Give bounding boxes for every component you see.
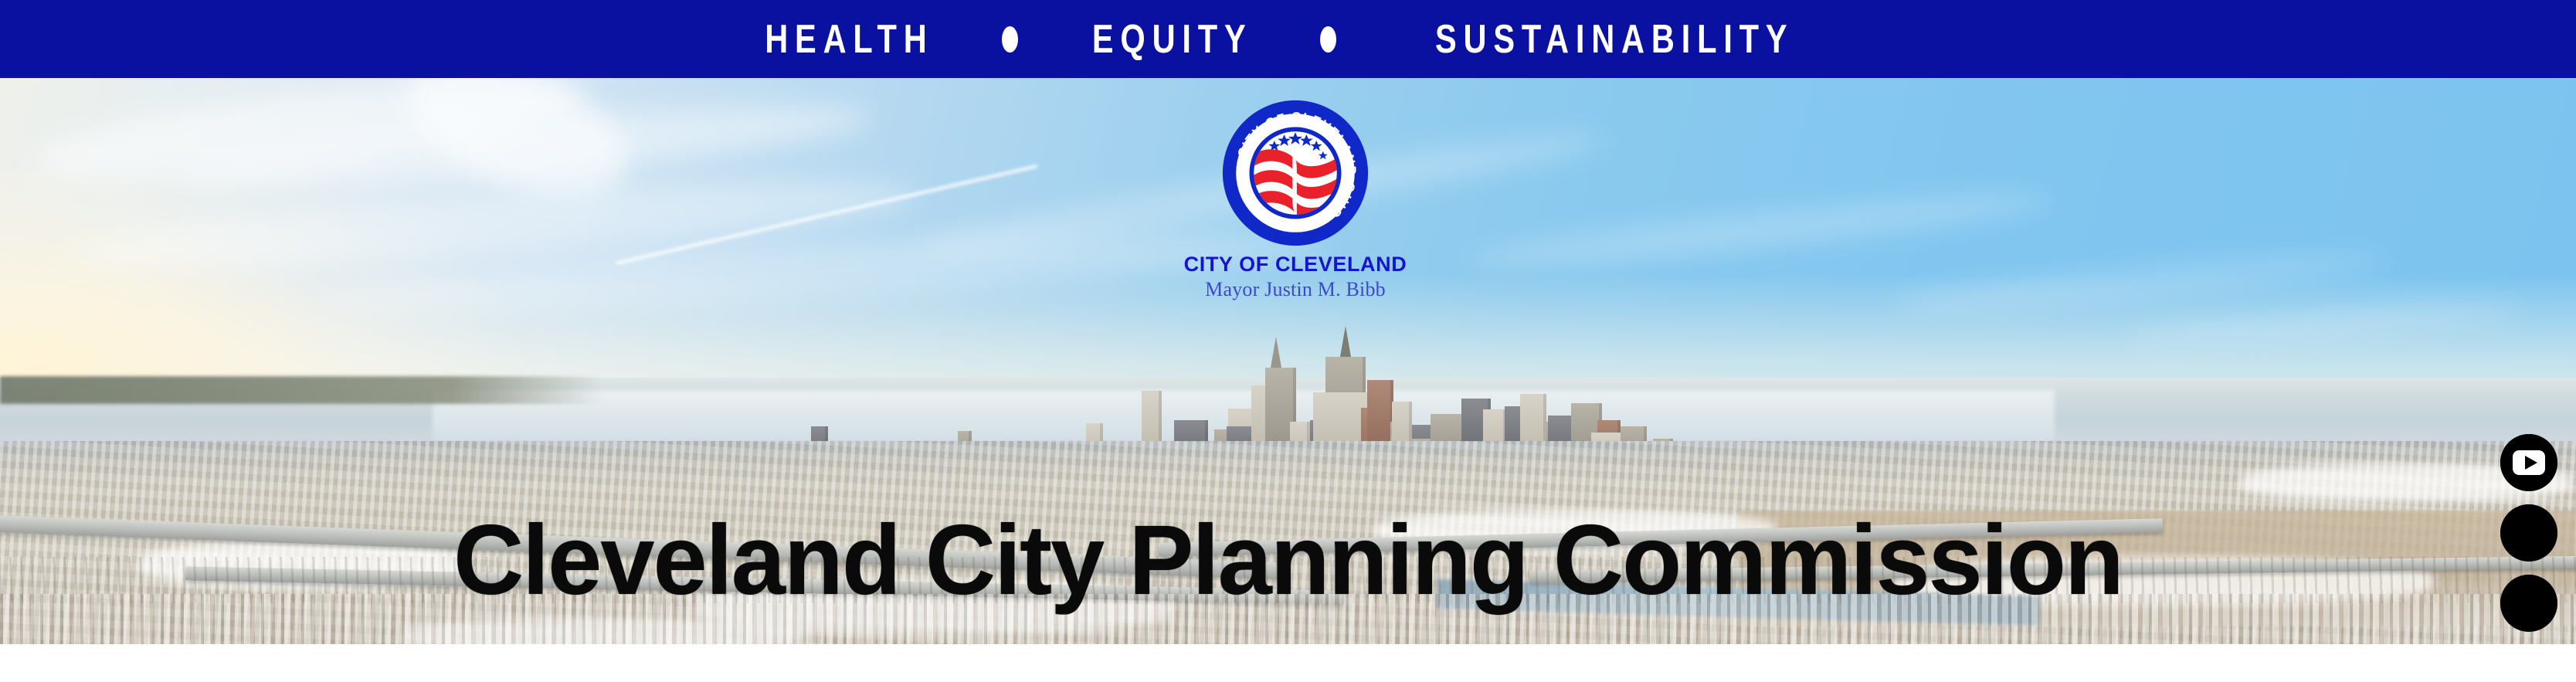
city-of-cleveland-logo: CITY OF CLEVELAND OHIO CITY OF CLEVELAND… — [1168, 99, 1423, 301]
tagline-separator-dot-1 — [1002, 26, 1018, 53]
city-seal: CITY OF CLEVELAND OHIO — [1221, 99, 1369, 247]
social-media-rail — [2500, 434, 2557, 632]
tagline-word-equity: EQUITY — [1085, 19, 1252, 59]
tagline-separator-dot-2 — [1320, 26, 1336, 53]
logo-city-line: CITY OF CLEVELAND — [1168, 253, 1423, 275]
key-tower-spire — [1340, 326, 1351, 357]
logo-mayor-line: Mayor Justin M. Bibb — [1168, 278, 1423, 301]
page-root: HEALTH EQUITY SUSTAINABILITY — [0, 0, 2576, 682]
tagline-word-sustainability: SUSTAINABILITY — [1428, 19, 1794, 59]
tagline-word-health: HEALTH — [759, 19, 934, 59]
tagline-row: HEALTH EQUITY SUSTAINABILITY — [736, 19, 1839, 59]
bottom-white-strip — [0, 644, 2576, 682]
instagram-icon[interactable] — [2500, 504, 2557, 562]
facebook-icon[interactable] — [2500, 575, 2557, 632]
tagline-banner: HEALTH EQUITY SUSTAINABILITY — [0, 0, 2576, 78]
youtube-icon[interactable] — [2500, 434, 2557, 491]
terminal-tower-spire — [1271, 337, 1281, 368]
page-title: Cleveland City Planning Commission — [19, 511, 2557, 610]
